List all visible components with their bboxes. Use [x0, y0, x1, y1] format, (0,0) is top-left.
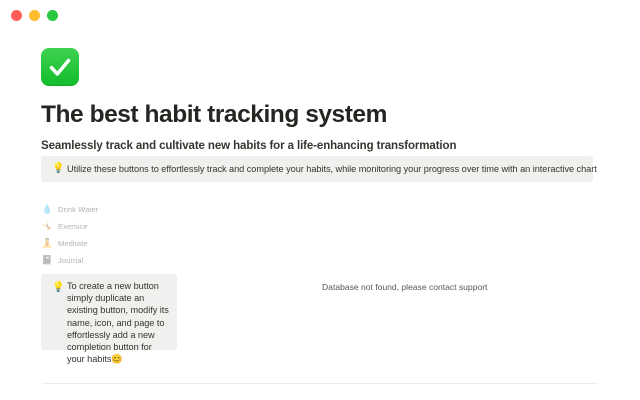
minimize-window-button[interactable]	[29, 10, 40, 21]
habit-label: Journal	[58, 255, 83, 267]
traffic-light-buttons	[11, 10, 58, 21]
light-bulb-icon: 💡	[52, 281, 64, 294]
notebook-icon: 📓	[41, 255, 54, 267]
habit-button-list: 💧 Drink Water 🤸 Exersice 🧘 Meditate 📓 Jo…	[41, 204, 241, 272]
habit-button-exersice[interactable]: 🤸 Exersice	[41, 221, 241, 233]
habit-label: Exersice	[58, 221, 88, 233]
close-window-button[interactable]	[11, 10, 22, 21]
maximize-window-button[interactable]	[47, 10, 58, 21]
window-titlebar	[0, 0, 640, 34]
info-callout-top: 💡 Utilize these buttons to effortlessly …	[41, 156, 593, 182]
white-check-mark-icon	[41, 48, 79, 86]
info-callout-top-text: Utilize these buttons to effortlessly tr…	[67, 163, 583, 176]
light-bulb-icon: 💡	[52, 162, 64, 175]
habit-label: Meditate	[58, 238, 88, 250]
droplet-icon: 💧	[41, 204, 54, 216]
page-divider	[42, 383, 598, 384]
info-callout-bottom: 💡 To create a new button simply duplicat…	[41, 274, 177, 350]
habit-button-meditate[interactable]: 🧘 Meditate	[41, 238, 241, 250]
page-title: The best habit tracking system	[41, 100, 387, 130]
meditation-icon: 🧘	[41, 238, 54, 250]
page-subtitle: Seamlessly track and cultivate new habit…	[41, 138, 456, 154]
exercise-person-icon: 🤸	[41, 221, 54, 233]
info-callout-bottom-text: To create a new button simply duplicate …	[67, 280, 169, 365]
habit-button-journal[interactable]: 📓 Journal	[41, 255, 241, 267]
habit-button-drink-water[interactable]: 💧 Drink Water	[41, 204, 241, 216]
page-content: The best habit tracking system Seamlessl…	[0, 34, 640, 400]
database-error-message: Database not found, please contact suppo…	[322, 281, 487, 293]
habit-label: Drink Water	[58, 204, 98, 216]
app-window: The best habit tracking system Seamlessl…	[0, 0, 640, 400]
